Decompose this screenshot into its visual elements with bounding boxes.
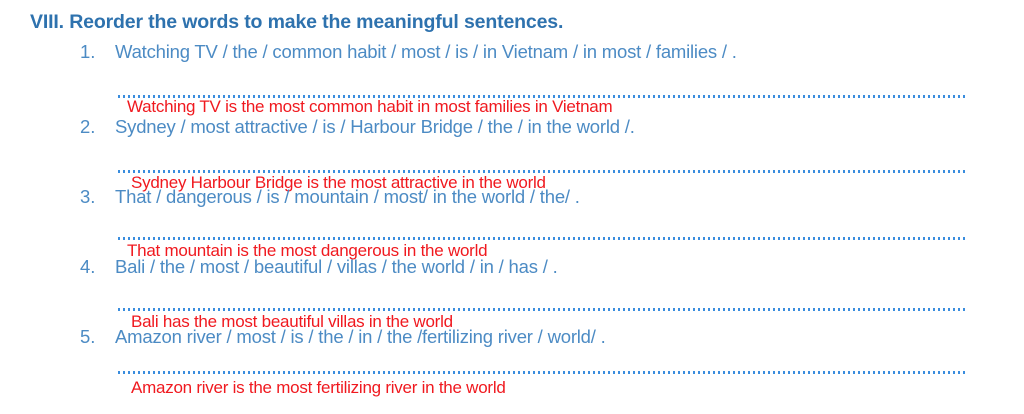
question-prompt: Sydney / most attractive / is / Harbour …	[115, 116, 635, 138]
question-item: 4. Bali / the / most / beautiful / villa…	[0, 256, 1024, 326]
worksheet-page: VIII. Reorder the words to make the mean…	[0, 0, 1024, 414]
question-prompt-row: 2. Sydney / most attractive / is / Harbo…	[0, 116, 1024, 144]
question-item: 1. Watching TV / the / common habit / mo…	[0, 41, 1024, 111]
exercise-heading: VIII. Reorder the words to make the mean…	[30, 11, 563, 34]
question-prompt-row: 1. Watching TV / the / common habit / mo…	[0, 41, 1024, 69]
answer-dotted-rule	[118, 170, 966, 173]
question-prompt-row: 4. Bali / the / most / beautiful / villa…	[0, 256, 1024, 284]
question-prompt: Amazon river / most / is / the / in / th…	[115, 326, 606, 348]
question-prompt-row: 3. That / dangerous / is / mountain / mo…	[0, 186, 1024, 214]
answer-dotted-rule	[118, 237, 966, 240]
question-prompt-row: 5. Amazon river / most / is / the / in /…	[0, 326, 1024, 354]
question-item: 3. That / dangerous / is / mountain / mo…	[0, 186, 1024, 256]
question-item: 5. Amazon river / most / is / the / in /…	[0, 326, 1024, 396]
question-prompt: Bali / the / most / beautiful / villas /…	[115, 256, 558, 278]
answer-dotted-rule	[118, 371, 966, 374]
answer-text[interactable]: Amazon river is the most fertilizing riv…	[131, 378, 506, 398]
answer-row: Watching TV is the most common habit in …	[0, 69, 1024, 95]
question-item: 2. Sydney / most attractive / is / Harbo…	[0, 116, 1024, 186]
answer-dotted-rule	[118, 95, 966, 98]
question-number: 3.	[80, 186, 110, 208]
question-number: 2.	[80, 116, 110, 138]
answer-text[interactable]: Watching TV is the most common habit in …	[127, 97, 612, 117]
question-prompt: That / dangerous / is / mountain / most/…	[115, 186, 580, 208]
question-number: 4.	[80, 256, 110, 278]
answer-row: Bali has the most beautiful villas in th…	[0, 284, 1024, 310]
answer-dotted-rule	[118, 308, 966, 311]
question-prompt: Watching TV / the / common habit / most …	[115, 41, 737, 63]
answer-row: Amazon river is the most fertilizing riv…	[0, 354, 1024, 380]
question-number: 5.	[80, 326, 110, 348]
answer-row: Sydney Harbour Bridge is the most attrac…	[0, 144, 1024, 170]
question-number: 1.	[80, 41, 110, 63]
